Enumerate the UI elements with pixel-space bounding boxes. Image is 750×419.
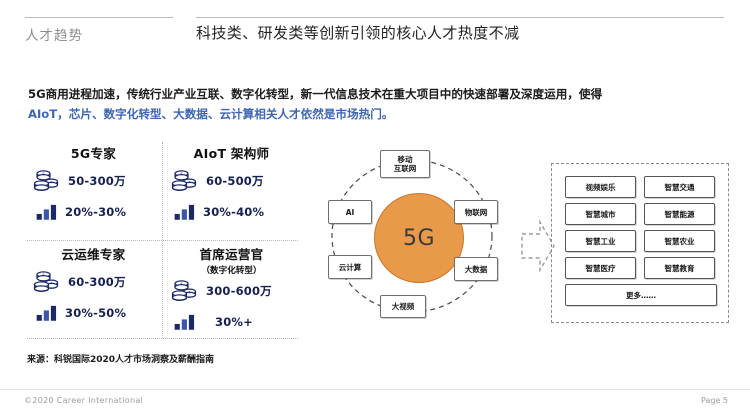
role-growth: 20%-30% [65,205,126,219]
role-card: 首席运营官 （数字化转型） $ $ [163,241,300,341]
app-more: 更多…… [565,284,717,306]
node-ai: AI [328,200,372,224]
intro-line-1: 5G商用进程加速，传统行业产业互联、数字化转型，新一代信息技术在重大项目中的快速… [28,84,688,104]
role-growth-row: 30%-40% [171,203,300,221]
bar-chart-icon [174,313,196,331]
role-title: 5G专家 [25,140,162,162]
role-growth-row: 30%+ [171,313,300,331]
role-growth-row: 20%-30% [33,203,162,221]
node-mobile-internet-line2: 互联网 [394,164,417,173]
app-smart-healthcare: 智慧医疗 [565,257,636,279]
svg-text:$: $ [180,282,182,286]
header-rule-right [196,17,724,18]
role-salary-row: $ $ 50-300万 [33,168,162,194]
svg-text:$: $ [180,172,182,176]
role-salary-row: $ $ 60-300万 [33,269,162,295]
node-iot: 物联网 [454,200,498,224]
role-growth: 30%-50% [65,306,126,320]
app-smart-education: 智慧教育 [644,257,715,279]
node-mobile-internet: 移动 互联网 [380,150,430,178]
application-row: 智慧工业 智慧农业 [565,230,715,252]
role-salary: 300-600万 [206,283,272,299]
node-mobile-internet-line1: 移动 [394,155,417,164]
role-salary: 50-300万 [68,173,126,189]
bar-chart-icon [36,304,58,322]
role-growth-row: 30%-50% [33,304,162,322]
svg-text:$: $ [51,281,53,285]
node-big-data: 大数据 [454,257,498,281]
svg-text:$: $ [42,172,44,176]
role-salary-row: $ $ 300-600万 [171,278,300,304]
role-salary-row: $ $ 60-500万 [171,168,300,194]
coin-stack-icon: $ $ [171,168,199,194]
role-card: 云运维专家 $ $ [25,241,162,341]
intro-line-2: AIoT，芯片、数字化转型、大数据、云计算相关人才依然是市场热门。 [28,104,688,124]
role-card: 5G专家 $ $ [25,140,162,240]
app-video-entertainment: 视频娱乐 [565,176,636,198]
intro-paragraph: 5G商用进程加速，传统行业产业互联、数字化转型，新一代信息技术在重大项目中的快速… [28,84,688,124]
applications-panel: 视频娱乐 智慧交通 智慧城市 智慧能源 智慧工业 智慧农业 智慧医疗 智慧教育 … [551,163,729,323]
application-row: 智慧医疗 智慧教育 [565,257,715,279]
ecosystem-diagram: 5G 移动 互联网 物联网 大数据 大视频 云计算 AI [312,145,527,330]
app-smart-transport: 智慧交通 [644,176,715,198]
role-card: AIoT 架构师 $ $ [163,140,300,240]
node-big-video: 大视频 [380,295,426,318]
bar-chart-icon [36,203,58,221]
header-section-label: 人才趋势 [25,24,83,44]
bar-chart-icon [174,203,196,221]
role-growth: 30%+ [215,315,253,329]
svg-text:$: $ [51,180,53,184]
role-title: AIoT 架构师 [163,140,300,162]
footer-divider [0,389,750,390]
page-title: 科技类、研发类等创新引领的核心人才热度不减 [196,22,519,43]
center-node-5g: 5G [374,193,464,283]
role-salary: 60-500万 [206,173,264,189]
roles-grid: 5G专家 $ $ [25,140,300,340]
application-row: 更多…… [565,284,715,306]
app-smart-agriculture: 智慧农业 [644,230,715,252]
role-title: 云运维专家 [25,241,162,263]
app-smart-city: 智慧城市 [565,203,636,225]
header-rule-left [25,17,173,18]
footer-copyright: ©2020 Career International [24,396,143,405]
role-title: 首席运营官 [163,241,300,263]
node-cloud-computing: 云计算 [328,255,372,279]
coin-stack-icon: $ $ [33,168,61,194]
app-smart-energy: 智慧能源 [644,203,715,225]
application-row: 视频娱乐 智慧交通 [565,176,715,198]
coin-stack-icon: $ $ [171,278,199,304]
role-salary: 60-300万 [68,274,126,290]
role-growth: 30%-40% [203,205,264,219]
applications-grid: 视频娱乐 智慧交通 智慧城市 智慧能源 智慧工业 智慧农业 智慧医疗 智慧教育 … [565,176,715,311]
footer-page-number: Page 5 [701,396,728,405]
application-row: 智慧城市 智慧能源 [565,203,715,225]
source-note: 来源：科锐国际2020人才市场洞察及薪酬指南 [27,352,214,365]
svg-text:$: $ [189,180,191,184]
role-subtitle: （数字化转型） [163,264,300,276]
svg-text:$: $ [42,273,44,277]
coin-stack-icon: $ $ [33,269,61,295]
app-smart-industry: 智慧工业 [565,230,636,252]
slide-root: 人才趋势 科技类、研发类等创新引领的核心人才热度不减 5G商用进程加速，传统行业… [0,0,750,419]
svg-text:$: $ [189,290,191,294]
